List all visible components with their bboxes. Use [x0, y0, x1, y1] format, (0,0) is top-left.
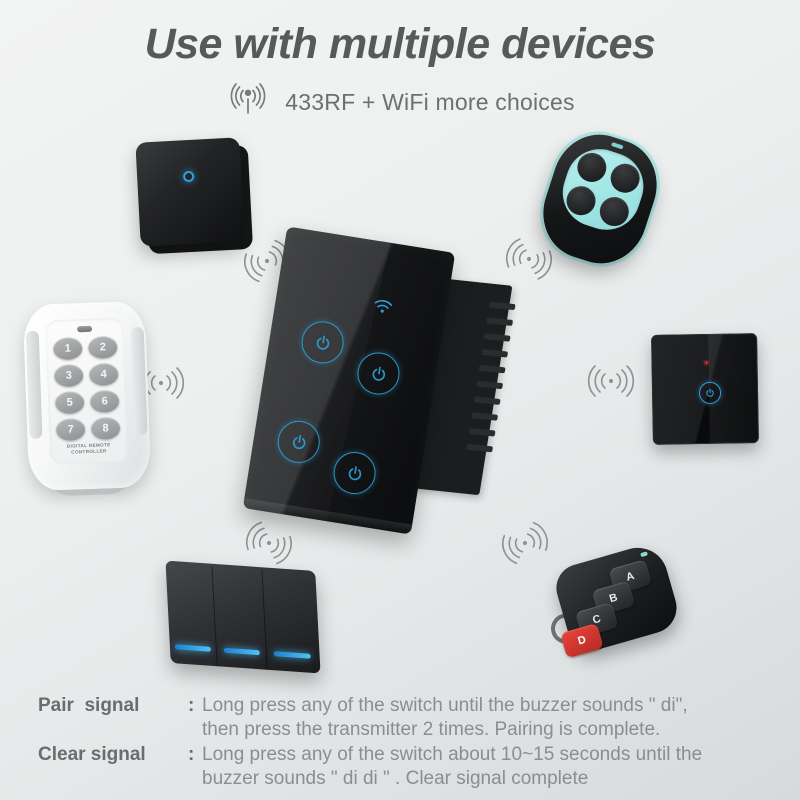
instruction-row-pair: Pair signal : Long press any of the swit…	[38, 694, 778, 718]
white-remote-brand-line2: CONTROLLER	[50, 448, 128, 457]
white-remote-shell: 1 2 3 4 5 6 7 8 DIGITAL REMOTE CONTROLLE…	[23, 301, 151, 491]
led-strip-icon	[174, 644, 210, 652]
teal-keyfob-plate	[554, 140, 652, 238]
instruction-text-clear-line2: buzzer sounds " di di " . Clear signal c…	[202, 767, 778, 791]
wall-panel-body	[165, 560, 320, 673]
page-title: Use with multiple devices	[0, 20, 800, 69]
instruction-colon-clear: :	[188, 744, 202, 766]
instruction-label-pair: Pair signal	[38, 695, 188, 717]
remote-key-8[interactable]: 8	[91, 417, 121, 440]
instruction-colon-pair: :	[188, 695, 202, 717]
teal-keyfob-button-1[interactable]	[574, 149, 611, 186]
wall-panel-rocker-3[interactable]	[264, 569, 317, 673]
car-keyfob-body: A B C D	[551, 541, 683, 656]
teal-keyfob-button-3[interactable]	[563, 182, 600, 219]
subtitle-row: 433RF + WiFi more choices	[0, 82, 800, 123]
led-strip-icon	[273, 651, 310, 659]
remote-key-6[interactable]: 6	[90, 390, 120, 413]
rf-receiver-face	[135, 137, 244, 246]
red-led-icon: ✳	[702, 360, 709, 367]
white-remote-wing-right	[131, 327, 148, 435]
wall-panel-rocker-1[interactable]	[166, 562, 219, 668]
instructions-block: Pair signal : Long press any of the swit…	[38, 694, 778, 791]
teal-keyfob-button-4[interactable]	[596, 193, 633, 230]
instruction-text-clear-line1: Long press any of the switch about 10~15…	[202, 743, 702, 767]
remote-key-4[interactable]: 4	[89, 363, 119, 386]
instruction-text-pair-line1: Long press any of the switch until the b…	[202, 694, 688, 718]
instruction-text-pair-line2: then press the transmitter 2 times. Pair…	[202, 718, 778, 742]
remote-key-2[interactable]: 2	[88, 336, 118, 359]
signal-wave-main-to-euswitch	[582, 356, 640, 406]
device-eu-touch-switch[interactable]: ✳	[651, 333, 759, 445]
remote-key-3[interactable]: 3	[54, 364, 84, 387]
wall-panel-rocker-2[interactable]	[215, 566, 268, 672]
status-led-icon	[77, 326, 92, 333]
instruction-label-clear: Clear signal	[38, 744, 188, 766]
white-remote-face: 1 2 3 4 5 6 7 8 DIGITAL REMOTE CONTROLLE…	[45, 318, 128, 465]
subtitle-text: 433RF + WiFi more choices	[285, 89, 574, 116]
status-led-icon	[640, 551, 648, 557]
remote-key-7[interactable]: 7	[56, 418, 86, 441]
instruction-row-clear: Clear signal : Long press any of the swi…	[38, 743, 778, 767]
remote-key-5[interactable]: 5	[55, 391, 85, 414]
device-rf-receiver[interactable]	[135, 137, 244, 246]
device-car-keyfob[interactable]: A B C D	[535, 540, 690, 682]
broadcast-antenna-icon	[225, 82, 271, 123]
device-white-remote[interactable]: 1 2 3 4 5 6 7 8 DIGITAL REMOTE CONTROLLE…	[23, 301, 151, 491]
ring-led-icon	[183, 171, 195, 183]
white-remote-keypad[interactable]: 1 2 3 4 5 6 7 8	[53, 336, 121, 441]
device-wireless-wall-panel[interactable]	[168, 566, 318, 668]
teal-keyfob-button-2[interactable]	[607, 160, 644, 197]
white-remote-wing-left	[26, 331, 43, 439]
eu-switch-face: ✳	[651, 333, 759, 445]
led-strip-icon	[224, 647, 260, 655]
remote-key-1[interactable]: 1	[53, 337, 83, 360]
status-led-icon	[611, 142, 624, 150]
white-remote-brand-text: DIGITAL REMOTE CONTROLLER	[50, 441, 128, 457]
wifi-icon	[371, 297, 395, 316]
device-main-touch-switch[interactable]	[258, 232, 508, 532]
car-keyfob-button-d[interactable]: D	[560, 623, 604, 658]
